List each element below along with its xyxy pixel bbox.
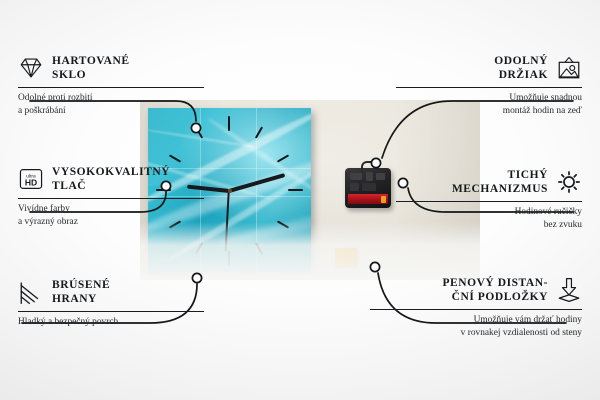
feature-hd-print: ultra HD VYSOKOKVALITNÝ TLAČ Vivídne far… <box>18 165 204 230</box>
feature-desc-line2: bez zvuku <box>396 219 582 232</box>
gear-icon <box>556 169 582 195</box>
ultra-hd-icon: ultra HD <box>18 166 44 192</box>
feature-desc-line1: Odolné proti rozbití <box>18 92 204 105</box>
feature-desc-line1: Umožňuje snadnou <box>396 92 582 105</box>
feature-desc-line2: montáž hodin na zeď <box>396 105 582 118</box>
mechanism-battery <box>348 194 388 204</box>
svg-text:HD: HD <box>25 178 37 188</box>
feature-tempered-glass: HARTOVANÉ SKLO Odolné proti rozbití a po… <box>18 54 204 119</box>
feature-desc-line1: Hladký a bezpečný povrch <box>18 316 204 329</box>
diamond-icon <box>18 55 44 81</box>
feature-title-line2: ČNÍ PODLOŽKY <box>442 290 548 304</box>
feature-foam-spacer: PENOVÝ DISTAN- ČNÍ PODLOŽKY Umožňuje vám… <box>370 276 582 341</box>
feature-title-line1: HARTOVANÉ <box>52 54 130 68</box>
feature-desc-line1: Umožňuje vám držať hodiny <box>370 314 582 327</box>
infographic-stage: HARTOVANÉ SKLO Odolné proti rozbití a po… <box>0 0 600 400</box>
feature-title-line2: HRANY <box>52 292 110 306</box>
feature-wall-mount: ODOLNÝ DRŽIAK Umožňuje snadnou montáž ho… <box>396 54 582 119</box>
mechanism-hanger-hook <box>361 161 379 172</box>
foam-spacer-icon <box>556 277 582 303</box>
feature-divider <box>396 87 582 88</box>
feature-title-line1: TICHÝ <box>452 168 548 182</box>
feature-title-line2: TLAČ <box>52 179 170 193</box>
feature-divider <box>18 87 204 88</box>
feature-divider <box>370 309 582 310</box>
feature-title-line1: ODOLNÝ <box>494 54 548 68</box>
feature-desc-line2: a poškrábání <box>18 105 204 118</box>
feature-desc-line1: Vivídne farby <box>18 203 204 216</box>
feature-divider <box>396 201 582 202</box>
feature-title-line1: VYSOKOKVALITNÝ <box>52 165 170 179</box>
feature-polished-edges: BRÚSENÉ HRANY Hladký a bezpečný povrch <box>18 278 204 329</box>
feature-title-line1: BRÚSENÉ <box>52 278 110 292</box>
polished-edges-icon <box>18 279 44 305</box>
feature-title-line2: SKLO <box>52 68 130 82</box>
feature-desc-line2: a výrazný obraz <box>18 216 204 229</box>
feature-silent-mechanism: TICHÝ MECHANIZMUS Hodinové ručičky bez z… <box>396 168 582 233</box>
feature-title-line1: PENOVÝ DISTAN- <box>442 276 548 290</box>
feature-title-line2: DRŽIAK <box>494 68 548 82</box>
feature-divider <box>18 198 204 199</box>
wall-mount-icon <box>556 55 582 81</box>
feature-title-line2: MECHANIZMUS <box>452 182 548 196</box>
feature-divider <box>18 311 204 312</box>
feature-desc-line2: v rovnakej vzdialenosti od steny <box>370 327 582 340</box>
feature-desc-line1: Hodinové ručičky <box>396 206 582 219</box>
clock-center-pin <box>228 189 232 193</box>
clock-mechanism <box>345 168 391 208</box>
